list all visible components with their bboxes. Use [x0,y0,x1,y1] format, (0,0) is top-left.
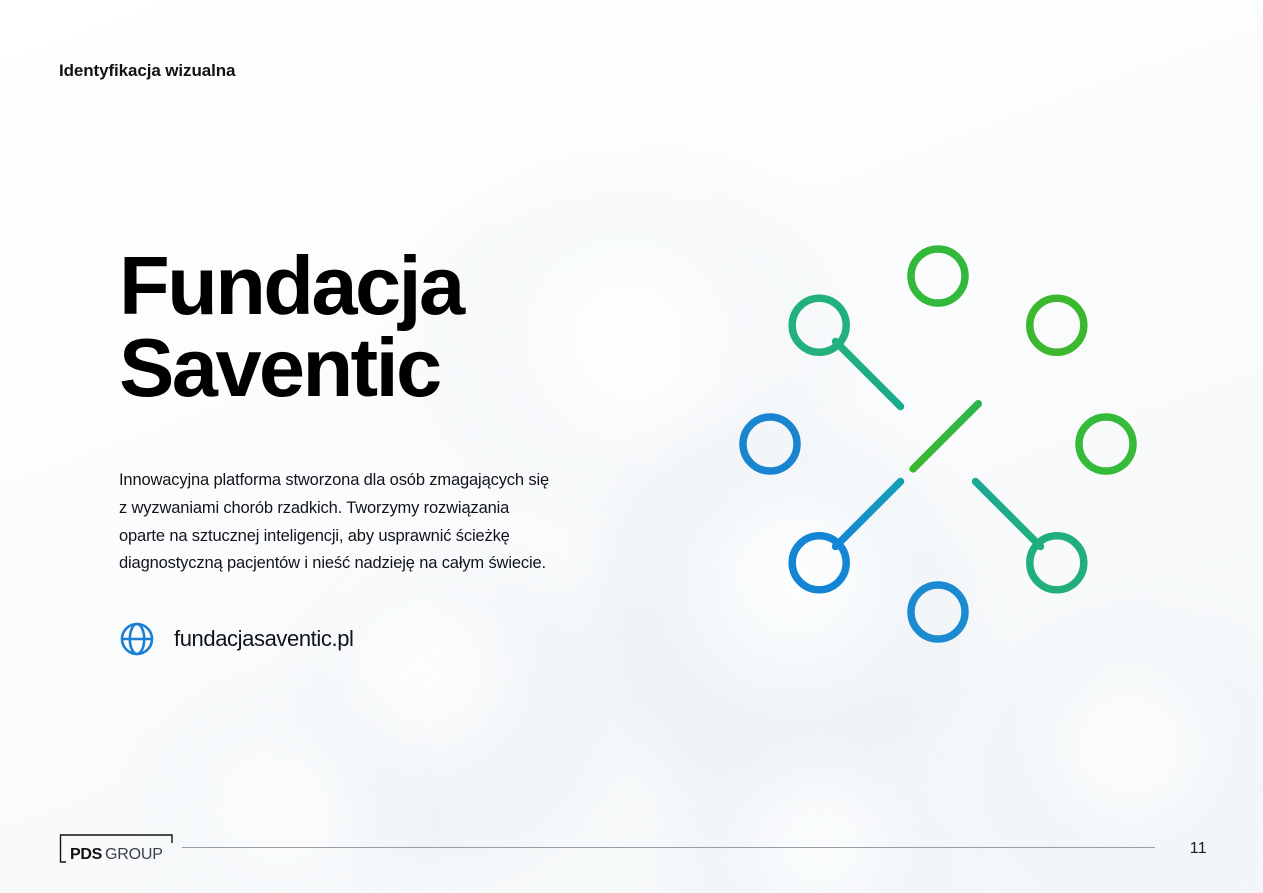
logo-node-bottom [911,585,965,639]
logo-node-top-right [1030,298,1084,352]
body-paragraph: Innowacyjna platforma stworzona dla osób… [119,409,639,578]
pds-brand-bold: PDS [70,846,103,863]
footer-divider [182,847,1155,848]
logo-node-bottom-left [792,536,846,590]
globe-icon [119,621,155,657]
logo-node-top-left [792,298,846,352]
logo-spoke-top-right [913,404,978,469]
logo-node-bottom-right [1030,536,1084,590]
logo-node-left [743,417,797,471]
slide-footer: PDS GROUP 11 [0,813,1263,893]
pds-brand-light: GROUP [105,846,163,863]
saventic-network-logo [718,224,1158,664]
logo-node-right [1079,417,1133,471]
logo-spoke-top-left [836,342,901,407]
logo-node-top [911,249,965,303]
logo-spoke-bottom-left [836,482,901,547]
logo-spoke-bottom-right [976,482,1041,547]
slide-canvas: Identyfikacja wizualna Fundacja Saventic… [0,0,1263,893]
content-column: Fundacja Saventic Innowacyjna platforma … [119,245,659,657]
page-title: Fundacja Saventic [119,245,659,409]
pds-group-logo: PDS GROUP [59,832,175,866]
page-number: 11 [1190,841,1207,857]
slide-section-label: Identyfikacja wizualna [59,61,235,81]
website-url-text: fundacjasaventic.pl [174,628,354,650]
website-link[interactable]: fundacjasaventic.pl [119,578,659,657]
